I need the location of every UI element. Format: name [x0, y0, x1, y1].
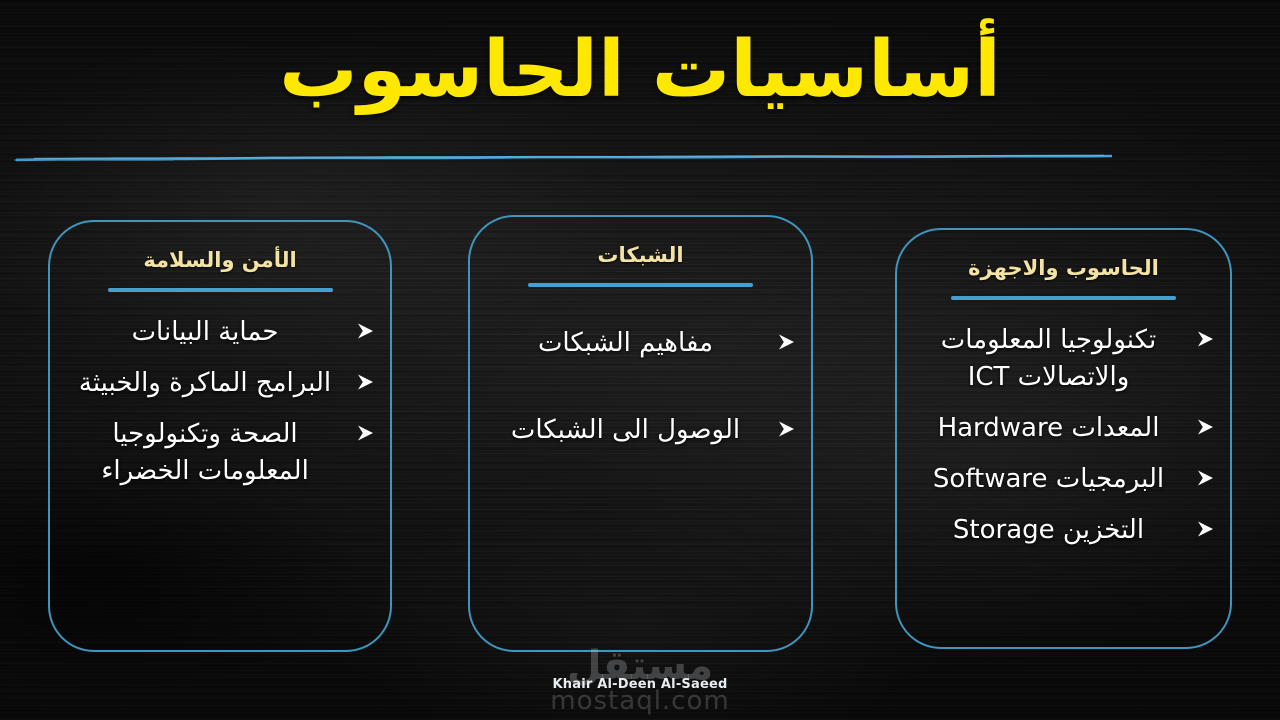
presentation-slide: أساسيات الحاسوب الحاسوب والاجهزة تكنولوج…	[0, 0, 1280, 720]
brush-stroke-icon	[14, 150, 1114, 162]
arrow-bullet-icon	[775, 418, 797, 440]
list-item[interactable]: التخزين Storage	[911, 512, 1216, 549]
list-item-label: التخزين Storage	[953, 515, 1144, 545]
list-item[interactable]: مفاهيم الشبكات	[484, 325, 797, 362]
page-title: أساسيات الحاسوب	[0, 28, 1280, 112]
card-list: حماية البيانات البرامج الماكرة والخبيثة …	[64, 314, 376, 490]
list-item-label: المعدات Hardware	[938, 413, 1160, 443]
list-item-label: البرمجيات Software	[933, 464, 1164, 494]
card-divider	[951, 296, 1176, 300]
list-item-label: الوصول الى الشبكات	[511, 415, 740, 445]
list-item[interactable]: البرمجيات Software	[911, 461, 1216, 498]
author-credit: Khair Al-Deen Al-Saeed	[0, 677, 1280, 692]
title-block: أساسيات الحاسوب	[0, 28, 1280, 112]
list-item-label: تكنولوجيا المعلومات والاتصالات ICT	[941, 325, 1156, 392]
card-networks[interactable]: الشبكات مفاهيم الشبكات الوصول الى الشبكا…	[468, 215, 813, 652]
arrow-bullet-icon	[354, 422, 376, 444]
card-divider	[108, 288, 333, 292]
arrow-bullet-icon	[1194, 416, 1216, 438]
card-list: تكنولوجيا المعلومات والاتصالات ICT المعد…	[911, 322, 1216, 549]
list-item[interactable]: المعدات Hardware	[911, 410, 1216, 447]
card-list: مفاهيم الشبكات الوصول الى الشبكات	[484, 325, 797, 449]
list-item-label: مفاهيم الشبكات	[538, 328, 713, 358]
list-item-label: البرامج الماكرة والخبيثة	[79, 368, 331, 398]
list-item[interactable]: حماية البيانات	[64, 314, 376, 351]
card-heading: الحاسوب والاجهزة	[911, 256, 1216, 280]
arrow-bullet-icon	[354, 371, 376, 393]
card-divider	[528, 283, 753, 287]
card-security-and-safety[interactable]: الأمن والسلامة حماية البيانات البرامج ال…	[48, 220, 392, 652]
card-computer-and-hardware[interactable]: الحاسوب والاجهزة تكنولوجيا المعلومات وال…	[895, 228, 1232, 649]
cards-container: الحاسوب والاجهزة تكنولوجيا المعلومات وال…	[0, 215, 1280, 660]
list-item-label: حماية البيانات	[132, 317, 279, 347]
arrow-bullet-icon	[1194, 467, 1216, 489]
list-item[interactable]: الصحة وتكنولوجيا المعلومات الخضراء	[64, 416, 376, 490]
list-item[interactable]: تكنولوجيا المعلومات والاتصالات ICT	[911, 322, 1216, 396]
card-heading: الأمن والسلامة	[64, 248, 376, 272]
list-item[interactable]: البرامج الماكرة والخبيثة	[64, 365, 376, 402]
arrow-bullet-icon	[775, 331, 797, 353]
card-heading: الشبكات	[484, 243, 797, 267]
arrow-bullet-icon	[1194, 328, 1216, 350]
list-item-label: الصحة وتكنولوجيا المعلومات الخضراء	[101, 419, 309, 486]
arrow-bullet-icon	[1194, 518, 1216, 540]
list-item[interactable]: الوصول الى الشبكات	[484, 412, 797, 449]
arrow-bullet-icon	[354, 320, 376, 342]
